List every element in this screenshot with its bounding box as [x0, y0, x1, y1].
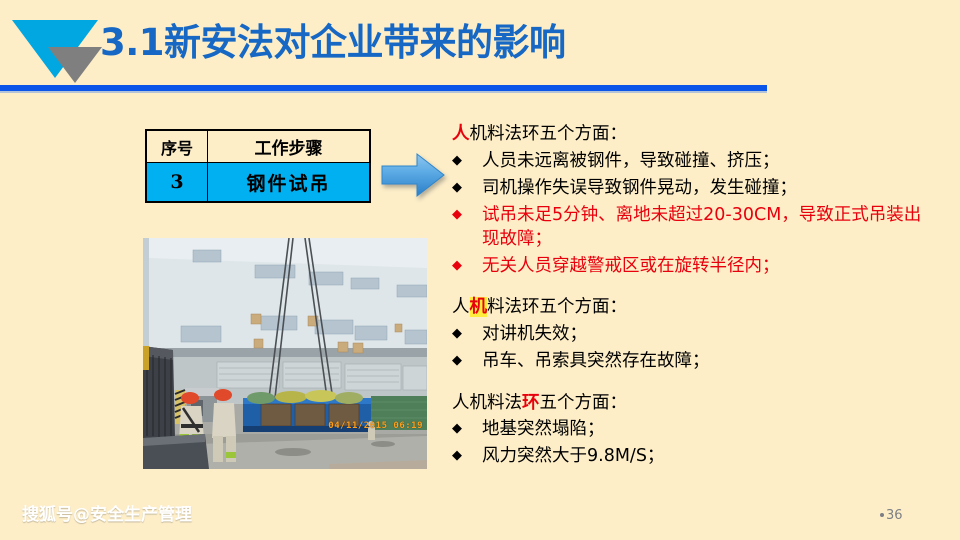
site-photo-image [143, 238, 427, 469]
list-item-label: 司机操作失误导致钢件晃动，发生碰撞； [482, 176, 922, 201]
section-ji: 人机料法环五个方面： ◆ 对讲机失效； ◆ 吊车、吊索具突然存在故障； [452, 295, 922, 374]
table-cell-no: 3 [146, 163, 208, 203]
section-heading: 人机料法环五个方面： [452, 295, 922, 320]
table-row: 3 钢件试吊 [146, 163, 370, 203]
section-heading-mark: 机 [470, 297, 488, 317]
section-heading-pre: 人 [452, 297, 470, 317]
list-item-label: 试吊未足5分钟、离地未超过20-30CM，导致正式吊装出现故障； [482, 203, 922, 253]
slide-number: 36 [880, 508, 903, 523]
list-item: ◆ 风力突然大于9.8M/S； [452, 444, 922, 469]
triangle-down-icon-small [48, 47, 102, 83]
section-heading: 人机料法环五个方面： [452, 391, 922, 416]
title-underline-rule [0, 85, 767, 91]
list-item: ◆ 司机操作失误导致钢件晃动，发生碰撞； [452, 176, 922, 201]
section-heading-post: 料法环五个方面： [487, 297, 627, 317]
list-item-label: 地基突然塌陷； [482, 417, 922, 442]
arrow-right-icon [381, 152, 445, 198]
diamond-bullet-icon: ◆ [452, 322, 482, 346]
work-step-table: 序号 工作步骤 3 钢件试吊 [145, 129, 371, 203]
section-huan: 人机料法环五个方面： ◆ 地基突然塌陷； ◆ 风力突然大于9.8M/S； [452, 391, 922, 470]
list-item-label: 风力突然大于9.8M/S； [482, 444, 922, 469]
section-heading-pre: 人机料法 [452, 393, 522, 413]
diamond-bullet-icon: ◆ [452, 417, 482, 441]
page-title: 3.1新安法对企业带来的影响 [100, 21, 566, 65]
section-heading-post: 机料法环五个方面： [470, 124, 628, 144]
list-item-label: 人员未远离被钢件，导致碰撞、挤压； [482, 149, 922, 174]
section-heading-mark: 人 [452, 124, 470, 144]
slide-number-dot [880, 513, 884, 517]
table-cell-step: 钢件试吊 [208, 163, 371, 203]
list-item: ◆ 人员未远离被钢件，导致碰撞、挤压； [452, 149, 922, 174]
table-header-row: 序号 工作步骤 [146, 130, 370, 163]
table-header-cell-step: 工作步骤 [208, 130, 371, 163]
section-heading-post: 五个方面： [540, 393, 628, 413]
slide-logo [12, 20, 107, 82]
photo-timestamp: 04/11/2015 06:19 [328, 421, 423, 431]
content-column: 人机料法环五个方面： ◆ 人员未远离被钢件，导致碰撞、挤压； ◆ 司机操作失误导… [452, 122, 922, 476]
diamond-bullet-icon: ◆ [452, 254, 482, 278]
section-heading-mark: 环 [522, 393, 540, 413]
list-item-label: 对讲机失效； [482, 322, 922, 347]
site-photo: 04/11/2015 06:19 [143, 238, 427, 469]
slide-canvas: 3.1新安法对企业带来的影响 序号 工作步骤 3 钢件试吊 [0, 0, 960, 540]
list-item: ◆ 吊车、吊索具突然存在故障； [452, 349, 922, 374]
list-item: ◆ 试吊未足5分钟、离地未超过20-30CM，导致正式吊装出现故障； [452, 203, 922, 253]
diamond-bullet-icon: ◆ [452, 349, 482, 373]
watermark: 搜狐号@安全生产管理 [22, 500, 192, 525]
section-heading: 人机料法环五个方面： [452, 122, 922, 147]
diamond-bullet-icon: ◆ [452, 149, 482, 173]
diamond-bullet-icon: ◆ [452, 444, 482, 468]
list-item: ◆ 对讲机失效； [452, 322, 922, 347]
list-item-label: 吊车、吊索具突然存在故障； [482, 349, 922, 374]
diamond-bullet-icon: ◆ [452, 176, 482, 200]
slide-number-value: 36 [886, 508, 903, 523]
table-header-cell-no: 序号 [146, 130, 208, 163]
list-item-label: 无关人员穿越警戒区或在旋转半径内； [482, 254, 922, 279]
section-ren: 人机料法环五个方面： ◆ 人员未远离被钢件，导致碰撞、挤压； ◆ 司机操作失误导… [452, 122, 922, 279]
list-item: ◆ 地基突然塌陷； [452, 417, 922, 442]
diamond-bullet-icon: ◆ [452, 203, 482, 227]
list-item: ◆ 无关人员穿越警戒区或在旋转半径内； [452, 254, 922, 279]
